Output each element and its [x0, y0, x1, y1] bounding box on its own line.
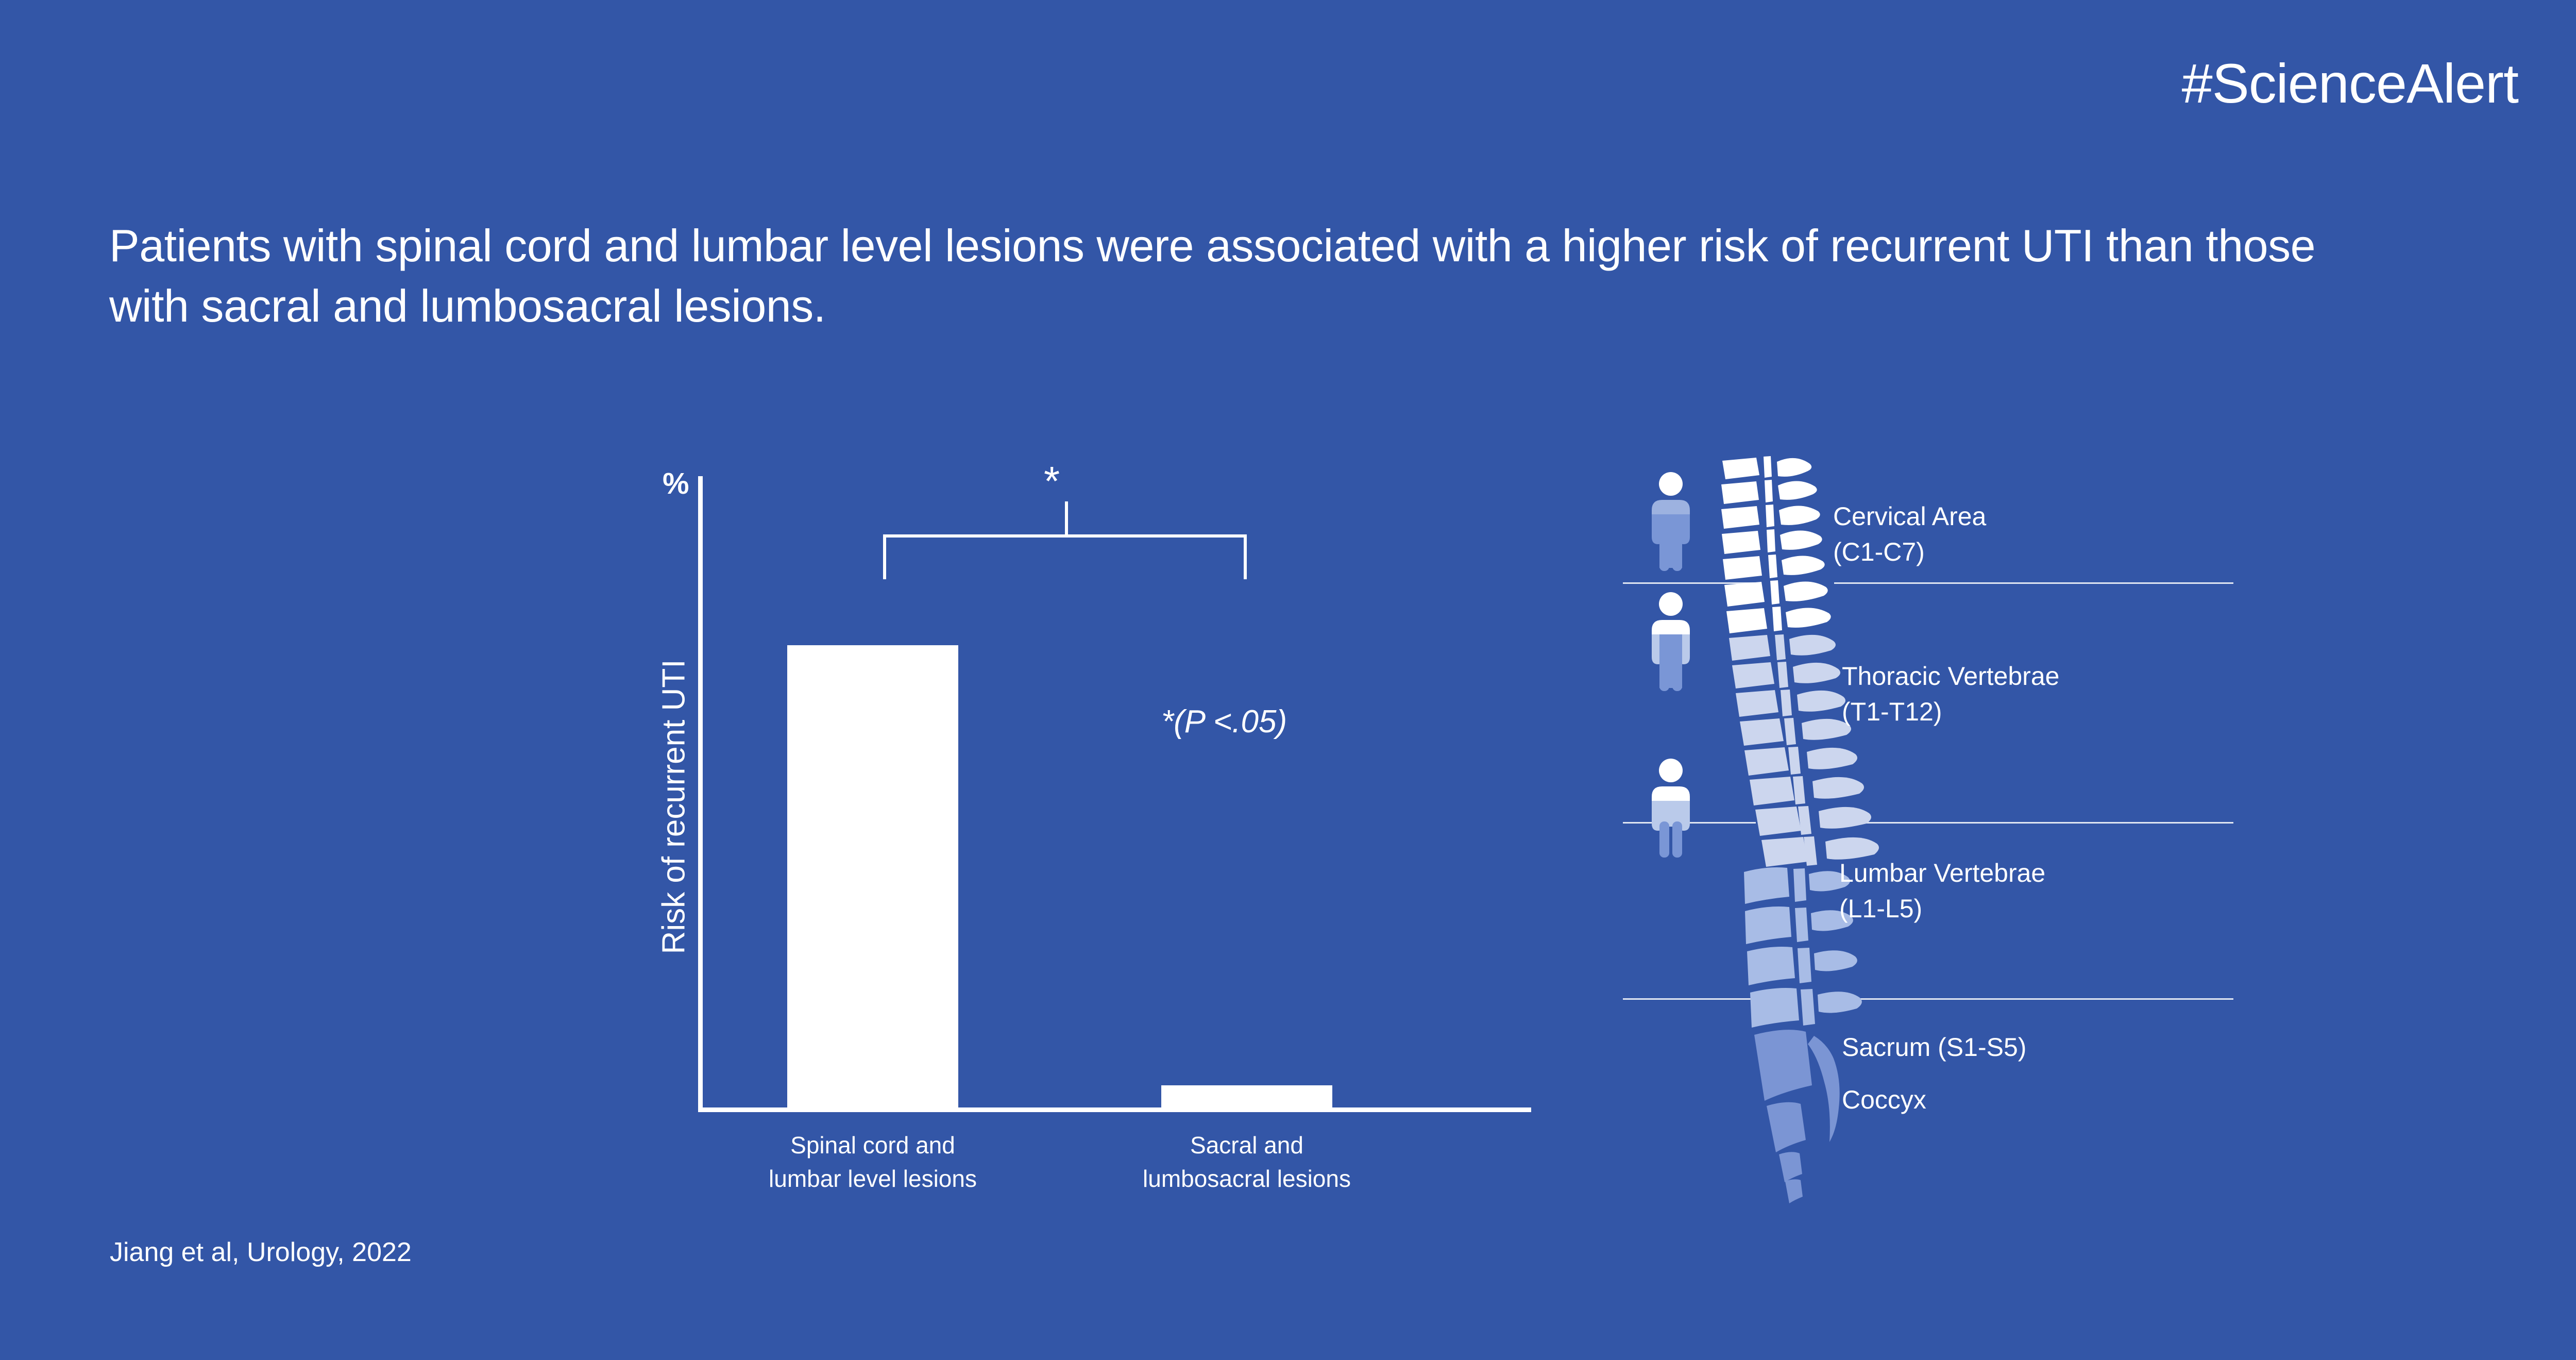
bar-sacral-lumbosacral	[1161, 1085, 1332, 1112]
region-label-coccyx: Coccyx	[1842, 1082, 1926, 1118]
y-axis-title: Risk of recurrent UTI	[656, 555, 692, 1060]
bracket-left-tick	[883, 534, 886, 579]
source-citation: Jiang et al, Urology, 2022	[110, 1237, 412, 1268]
region-label-line1: Thoracic Vertebrae	[1842, 659, 2059, 694]
region-label-line1: Lumbar Vertebrae	[1839, 855, 2045, 891]
infographic-canvas: #ScienceAlert Patients with spinal cord …	[0, 0, 2576, 1360]
significance-bracket	[883, 534, 1247, 579]
region-divider-cervical-thoracic-right	[1834, 582, 2233, 584]
region-divider-lumbar-sacrum-right	[1834, 998, 2233, 1000]
bar-label-line2: lumbar level lesions	[728, 1162, 1017, 1196]
region-label-cervical: Cervical Area (C1-C7)	[1833, 499, 1986, 570]
cervical-segment	[1721, 456, 1831, 633]
brand-hashtag: #ScienceAlert	[2182, 56, 2518, 111]
bar-label-line1: Spinal cord and	[728, 1129, 1017, 1162]
bar-label-sacral-lumbosacral: Sacral and lumbosacral lesions	[1103, 1129, 1391, 1196]
spine-anatomy-diagram: Cervical Area (C1-C7) Thoracic Vertebrae…	[1597, 459, 2277, 1216]
person-pictogram-lumbar	[1642, 757, 1699, 867]
region-label-sacrum: Sacrum (S1-S5)	[1842, 1030, 2026, 1065]
region-label-line2: (C1-C7)	[1833, 534, 1986, 570]
region-divider-thoracic-lumbar-right	[1834, 822, 2233, 824]
region-label-lumbar: Lumbar Vertebrae (L1-L5)	[1839, 855, 2045, 927]
page-headline: Patients with spinal cord and lumbar lev…	[109, 215, 2402, 336]
p-value-note: *(P <.05)	[1161, 703, 1287, 740]
bar-spinal-cord-lumbar	[787, 645, 958, 1112]
person-pictogram-thoracic	[1642, 590, 1699, 701]
region-label-line1: Cervical Area	[1833, 499, 1986, 534]
bar-label-line2: lumbosacral lesions	[1103, 1162, 1391, 1196]
bar-label-spinal-cord-lumbar: Spinal cord and lumbar level lesions	[728, 1129, 1017, 1196]
region-label-line1: Coccyx	[1842, 1082, 1926, 1118]
region-label-thoracic: Thoracic Vertebrae (T1-T12)	[1842, 659, 2059, 730]
bracket-right-tick	[1244, 534, 1247, 579]
significance-asterisk: *	[1044, 461, 1060, 502]
sacrum-coccyx-segment	[1754, 1030, 1840, 1203]
y-axis-unit-label: %	[663, 469, 689, 499]
bar-chart: % Risk of recurrent UTI Spinal cord and …	[634, 464, 1571, 1196]
bracket-stem	[1065, 501, 1068, 536]
bar-label-line1: Sacral and	[1103, 1129, 1391, 1162]
region-label-line1: Sacrum (S1-S5)	[1842, 1030, 2026, 1065]
person-pictogram-cervical	[1642, 470, 1699, 581]
y-axis-line	[698, 476, 703, 1112]
region-label-line2: (L1-L5)	[1839, 891, 2045, 927]
region-label-line2: (T1-T12)	[1842, 694, 2059, 730]
